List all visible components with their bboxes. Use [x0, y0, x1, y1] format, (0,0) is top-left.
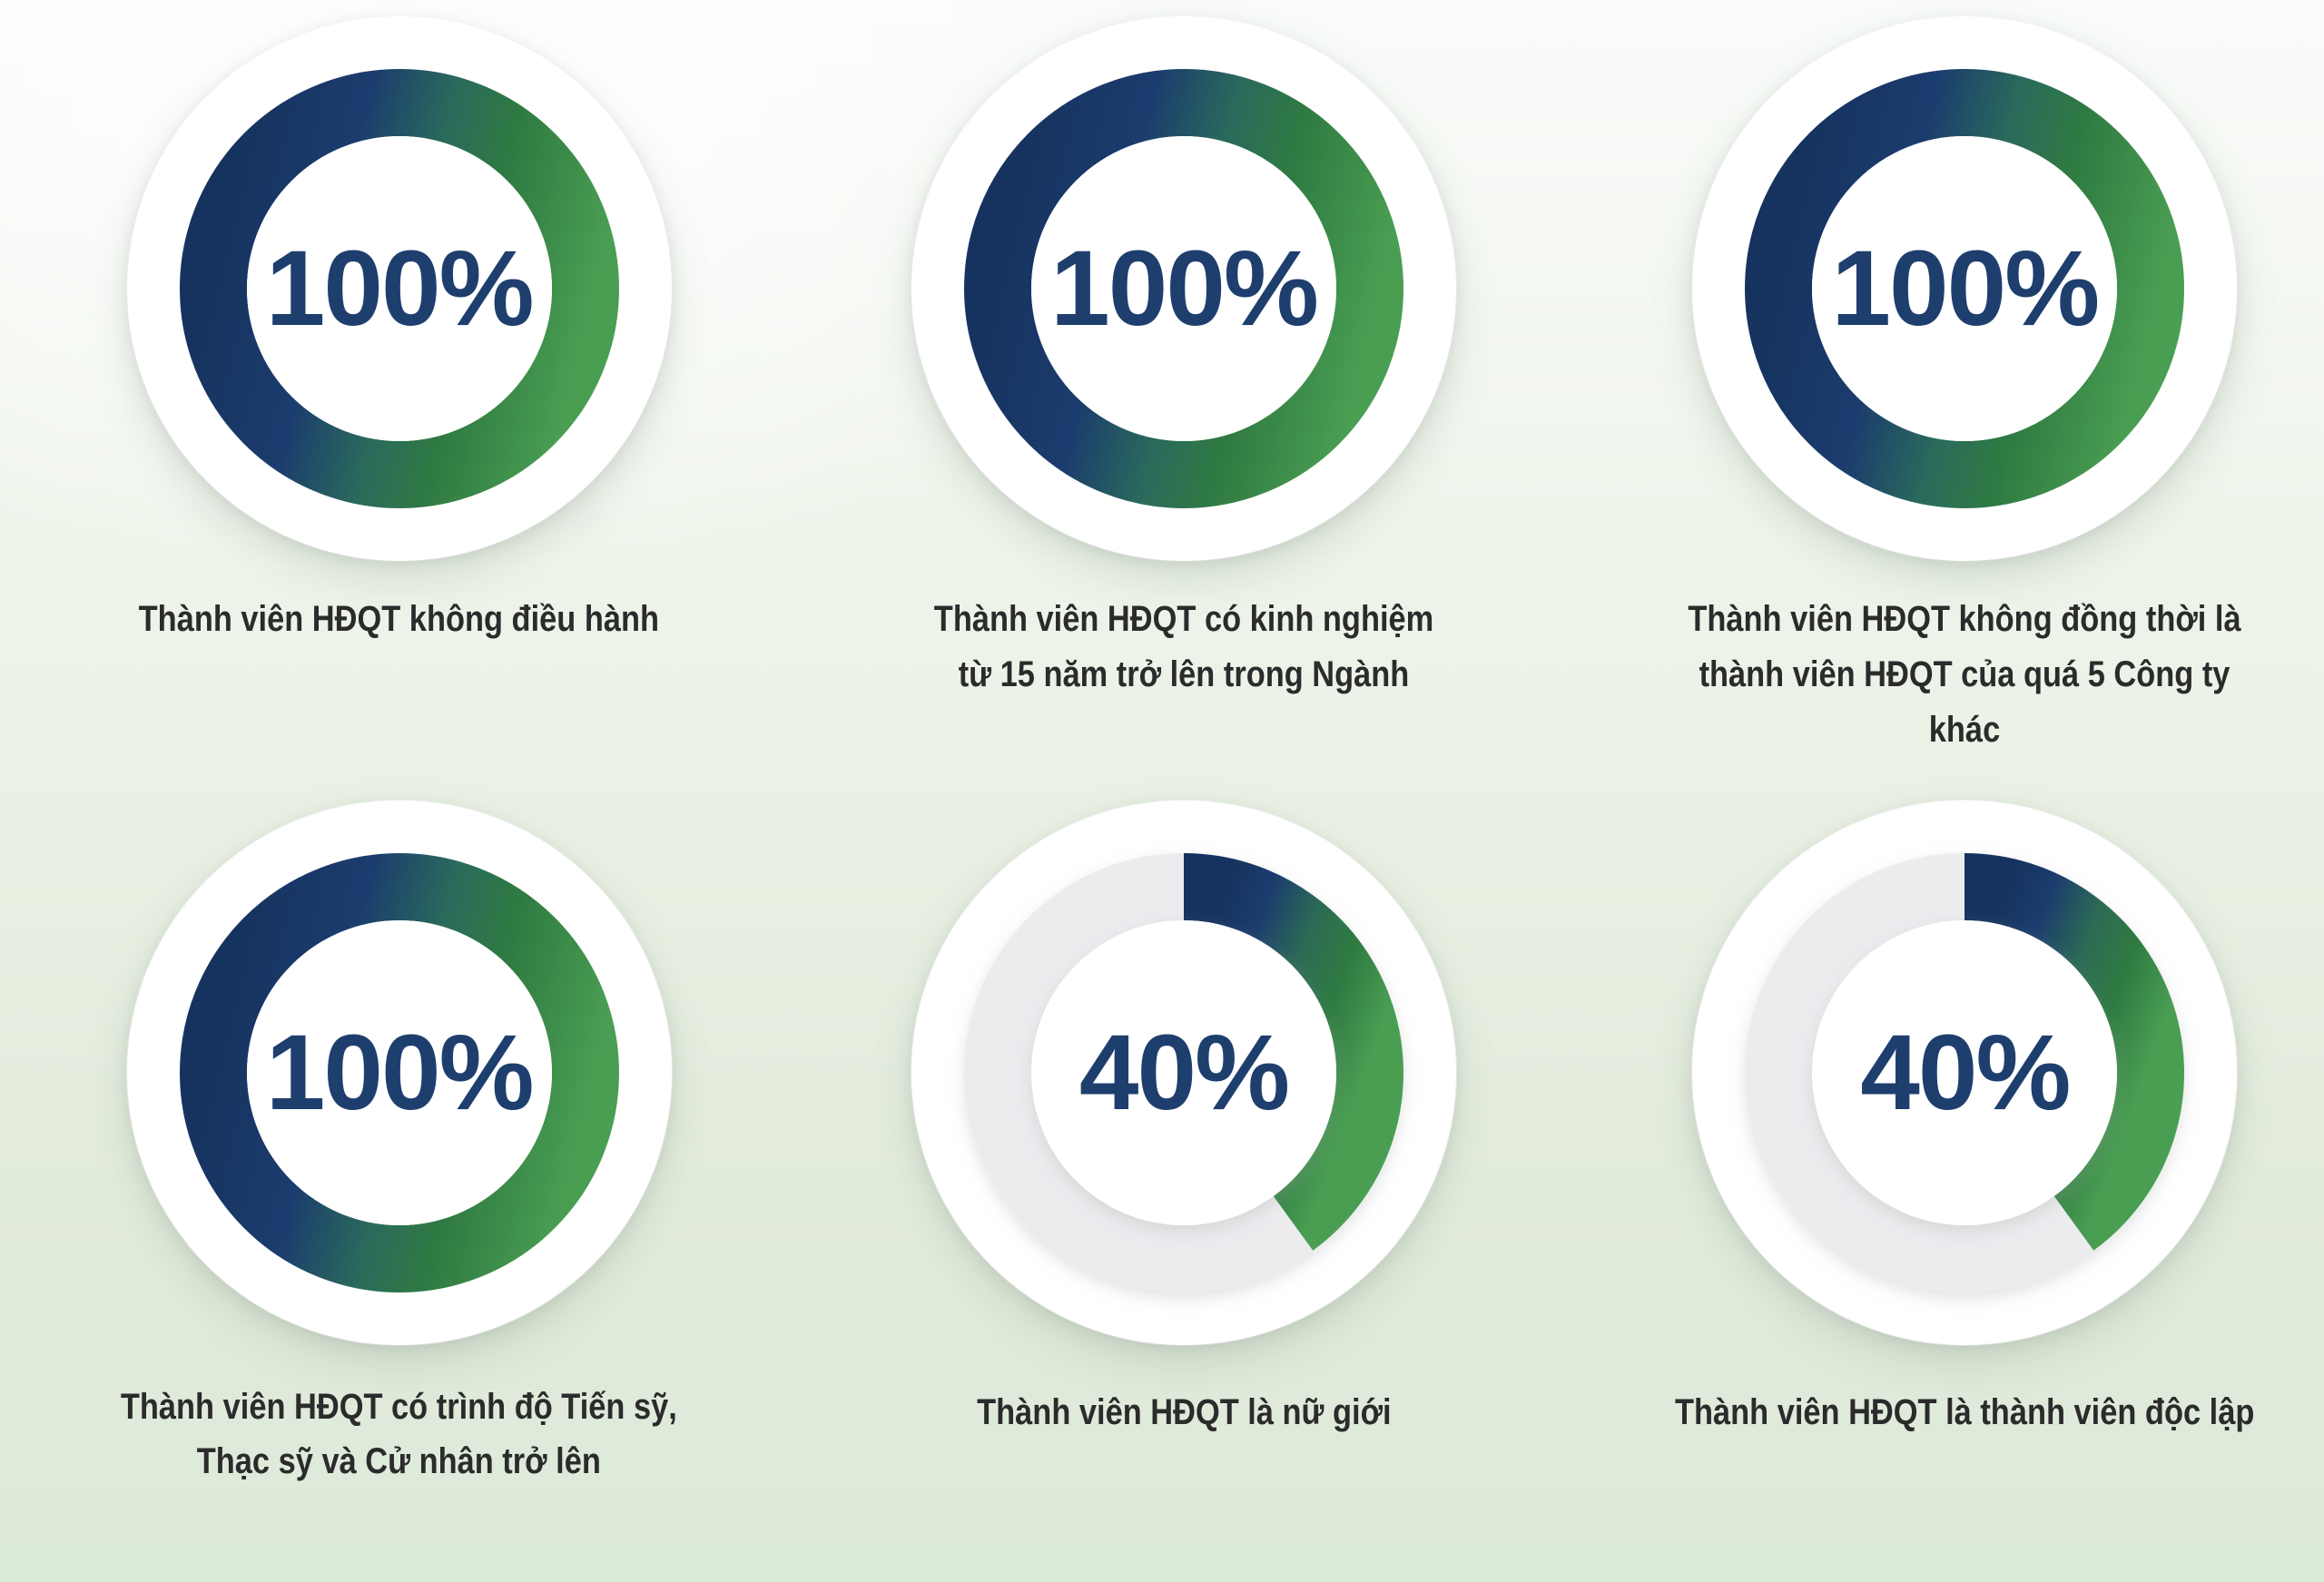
gauge-caption: Thành viên HĐQT có trình độ Tiến sỹ, Thạ…	[121, 1380, 677, 1490]
gauge-members-with-degree: 100%	[127, 801, 672, 1345]
gauge-independent-members: 40%	[1692, 801, 2237, 1345]
gauge-card-members-not-on-more-than-5-boards: 100%Thành viên HĐQT không đồng thời là t…	[1550, 0, 2324, 791]
gauge-caption: Thành viên HĐQT là nữ giới	[977, 1385, 1391, 1440]
gauge-card-members-with-degree: 100%Thành viên HĐQT có trình độ Tiến sỹ,…	[0, 791, 774, 1582]
gauge-card-non-executive-members: 100%Thành viên HĐQT không điều hành	[0, 0, 774, 791]
gauge-female-members: 40%	[911, 801, 1456, 1345]
gauge-ring-female-members	[911, 801, 1456, 1345]
gauge-hub	[247, 136, 552, 441]
gauge-members-15-years-experience: 100%	[911, 16, 1456, 561]
gauge-hub	[247, 920, 552, 1225]
gauge-caption: Thành viên HĐQT không điều hành	[139, 592, 659, 647]
gauge-ring-members-15-years-experience	[911, 16, 1456, 561]
gauge-card-independent-members: 40%Thành viên HĐQT là thành viên độc lập	[1550, 791, 2324, 1582]
gauge-card-female-members: 40%Thành viên HĐQT là nữ giới	[774, 791, 1549, 1582]
gauge-ring-independent-members	[1692, 801, 2237, 1345]
gauge-ring-members-not-on-more-than-5-boards	[1692, 16, 2237, 561]
gauge-caption: Thành viên HĐQT không đồng thời là thành…	[1669, 592, 2262, 757]
gauge-ring-members-with-degree	[127, 801, 672, 1345]
gauge-non-executive-members: 100%	[127, 16, 672, 561]
gauge-grid: 100%Thành viên HĐQT không điều hành100%T…	[0, 0, 2324, 1582]
gauge-card-members-15-years-experience: 100%Thành viên HĐQT có kinh nghiệm từ 15…	[774, 0, 1549, 791]
gauge-hub	[1031, 920, 1336, 1225]
gauge-hub	[1812, 136, 2117, 441]
gauge-ring-non-executive-members	[127, 16, 672, 561]
gauge-members-not-on-more-than-5-boards: 100%	[1692, 16, 2237, 561]
gauge-hub	[1812, 920, 2117, 1225]
gauge-caption: Thành viên HĐQT có kinh nghiệm từ 15 năm…	[934, 592, 1433, 703]
gauge-caption: Thành viên HĐQT là thành viên độc lập	[1675, 1385, 2254, 1440]
gauge-hub	[1031, 136, 1336, 441]
